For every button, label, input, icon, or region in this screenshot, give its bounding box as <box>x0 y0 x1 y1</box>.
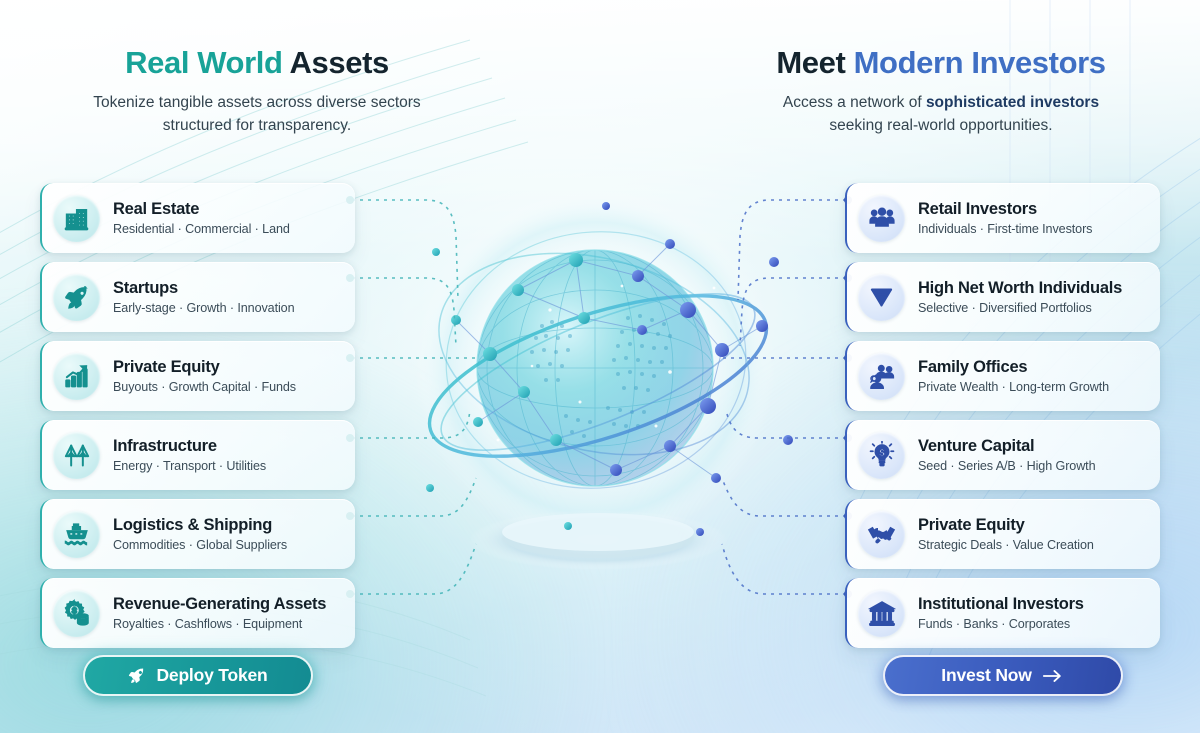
right-subtitle: Access a network of sophisticated invest… <box>706 92 1176 138</box>
rocket-icon <box>53 274 100 321</box>
card-subtitle: Private Wealth · Long-term Growth <box>918 380 1109 394</box>
family-group-icon <box>858 353 905 400</box>
ship-icon <box>53 511 100 558</box>
left-title-accent: Real World <box>125 45 282 80</box>
card-title: Startups <box>113 279 295 298</box>
invest-now-label: Invest Now <box>941 665 1031 686</box>
asset-card-logistics-shipping[interactable]: Logistics & Shipping Commodities · Globa… <box>40 499 355 569</box>
card-text: Startups Early-stage · Growth · Innovati… <box>113 279 295 315</box>
left-subtitle-line1: Tokenize tangible assets across diverse … <box>22 92 492 115</box>
right-subtitle-line1: Access a network of sophisticated invest… <box>706 92 1176 115</box>
modern-investors-column: Retail Investors Individuals · First-tim… <box>845 183 1160 657</box>
card-subtitle: Early-stage · Growth · Innovation <box>113 301 295 315</box>
right-subtitle-bold: sophisticated investors <box>926 94 1099 111</box>
rocket-icon <box>127 666 146 685</box>
card-subtitle: Selective · Diversified Portfolios <box>918 301 1122 315</box>
right-heading-block: Meet Modern Investors Access a network o… <box>706 46 1176 138</box>
right-subtitle-pre: Access a network of <box>783 94 926 111</box>
deploy-token-cta-wrap: Deploy Token <box>40 655 355 696</box>
right-title-lead: Meet <box>776 45 853 80</box>
left-title: Real World Assets <box>22 46 492 81</box>
card-title: Family Offices <box>918 358 1109 377</box>
bank-icon <box>858 590 905 637</box>
diamond-icon <box>858 274 905 321</box>
asset-card-revenue-generating[interactable]: Revenue-Generating Assets Royalties · Ca… <box>40 578 355 648</box>
card-text: Revenue-Generating Assets Royalties · Ca… <box>113 595 326 631</box>
deploy-token-button[interactable]: Deploy Token <box>83 655 313 696</box>
deploy-token-label: Deploy Token <box>156 665 267 686</box>
right-title: Meet Modern Investors <box>706 46 1176 81</box>
card-text: Private Equity Buyouts · Growth Capital … <box>113 358 296 394</box>
bridge-icon <box>53 432 100 479</box>
investor-card-family-offices[interactable]: Family Offices Private Wealth · Long-ter… <box>845 341 1160 411</box>
card-title: Private Equity <box>113 358 296 377</box>
left-title-rest: Assets <box>283 45 389 80</box>
card-subtitle: Individuals · First-time Investors <box>918 222 1092 236</box>
invest-now-cta-wrap: Invest Now <box>845 655 1160 696</box>
asset-card-infrastructure[interactable]: Infrastructure Energy · Transport · Util… <box>40 420 355 490</box>
card-text: Retail Investors Individuals · First-tim… <box>918 200 1092 236</box>
card-subtitle: Royalties · Cashflows · Equipment <box>113 617 326 631</box>
card-subtitle: Funds · Banks · Corporates <box>918 617 1084 631</box>
card-subtitle: Residential · Commercial · Land <box>113 222 290 236</box>
investor-card-private-equity[interactable]: Private Equity Strategic Deals · Value C… <box>845 499 1160 569</box>
right-title-accent: Modern Investors <box>854 45 1106 80</box>
card-text: Infrastructure Energy · Transport · Util… <box>113 437 266 473</box>
card-text: Real Estate Residential · Commercial · L… <box>113 200 290 236</box>
card-text: Venture Capital Seed · Series A/B · High… <box>918 437 1096 473</box>
card-subtitle: Strategic Deals · Value Creation <box>918 538 1094 552</box>
card-text: Institutional Investors Funds · Banks · … <box>918 595 1084 631</box>
card-title: Logistics & Shipping <box>113 516 287 535</box>
infographic-canvas: Real World Assets Tokenize tangible asse… <box>0 0 1200 733</box>
lightbulb-dollar-icon <box>858 432 905 479</box>
card-title: High Net Worth Individuals <box>918 279 1122 298</box>
asset-card-real-estate[interactable]: Real Estate Residential · Commercial · L… <box>40 183 355 253</box>
card-title: Private Equity <box>918 516 1094 535</box>
card-title: Venture Capital <box>918 437 1096 456</box>
investor-card-retail[interactable]: Retail Investors Individuals · First-tim… <box>845 183 1160 253</box>
card-subtitle: Energy · Transport · Utilities <box>113 459 266 473</box>
left-heading-block: Real World Assets Tokenize tangible asse… <box>22 46 492 138</box>
handshake-icon <box>858 511 905 558</box>
investor-card-venture-capital[interactable]: Venture Capital Seed · Series A/B · High… <box>845 420 1160 490</box>
card-text: Family Offices Private Wealth · Long-ter… <box>918 358 1109 394</box>
card-subtitle: Seed · Series A/B · High Growth <box>918 459 1096 473</box>
card-title: Revenue-Generating Assets <box>113 595 326 614</box>
investor-card-hnwi[interactable]: High Net Worth Individuals Selective · D… <box>845 262 1160 332</box>
asset-card-startups[interactable]: Startups Early-stage · Growth · Innovati… <box>40 262 355 332</box>
card-title: Institutional Investors <box>918 595 1084 614</box>
card-title: Infrastructure <box>113 437 266 456</box>
card-text: High Net Worth Individuals Selective · D… <box>918 279 1122 315</box>
people-group-icon <box>858 195 905 242</box>
money-gear-icon <box>53 590 100 637</box>
arrow-right-icon <box>1042 668 1064 684</box>
invest-now-button[interactable]: Invest Now <box>883 655 1123 696</box>
asset-card-private-equity[interactable]: Private Equity Buyouts · Growth Capital … <box>40 341 355 411</box>
card-title: Retail Investors <box>918 200 1092 219</box>
right-subtitle-line2: seeking real-world opportunities. <box>706 115 1176 138</box>
left-subtitle: Tokenize tangible assets across diverse … <box>22 92 492 138</box>
card-subtitle: Buyouts · Growth Capital · Funds <box>113 380 296 394</box>
card-title: Real Estate <box>113 200 290 219</box>
real-world-assets-column: Real Estate Residential · Commercial · L… <box>40 183 355 657</box>
card-text: Logistics & Shipping Commodities · Globa… <box>113 516 287 552</box>
investor-card-institutional[interactable]: Institutional Investors Funds · Banks · … <box>845 578 1160 648</box>
card-subtitle: Commodities · Global Suppliers <box>113 538 287 552</box>
card-text: Private Equity Strategic Deals · Value C… <box>918 516 1094 552</box>
building-icon <box>53 195 100 242</box>
left-subtitle-line2: structured for transparency. <box>22 115 492 138</box>
bar-chart-icon <box>53 353 100 400</box>
